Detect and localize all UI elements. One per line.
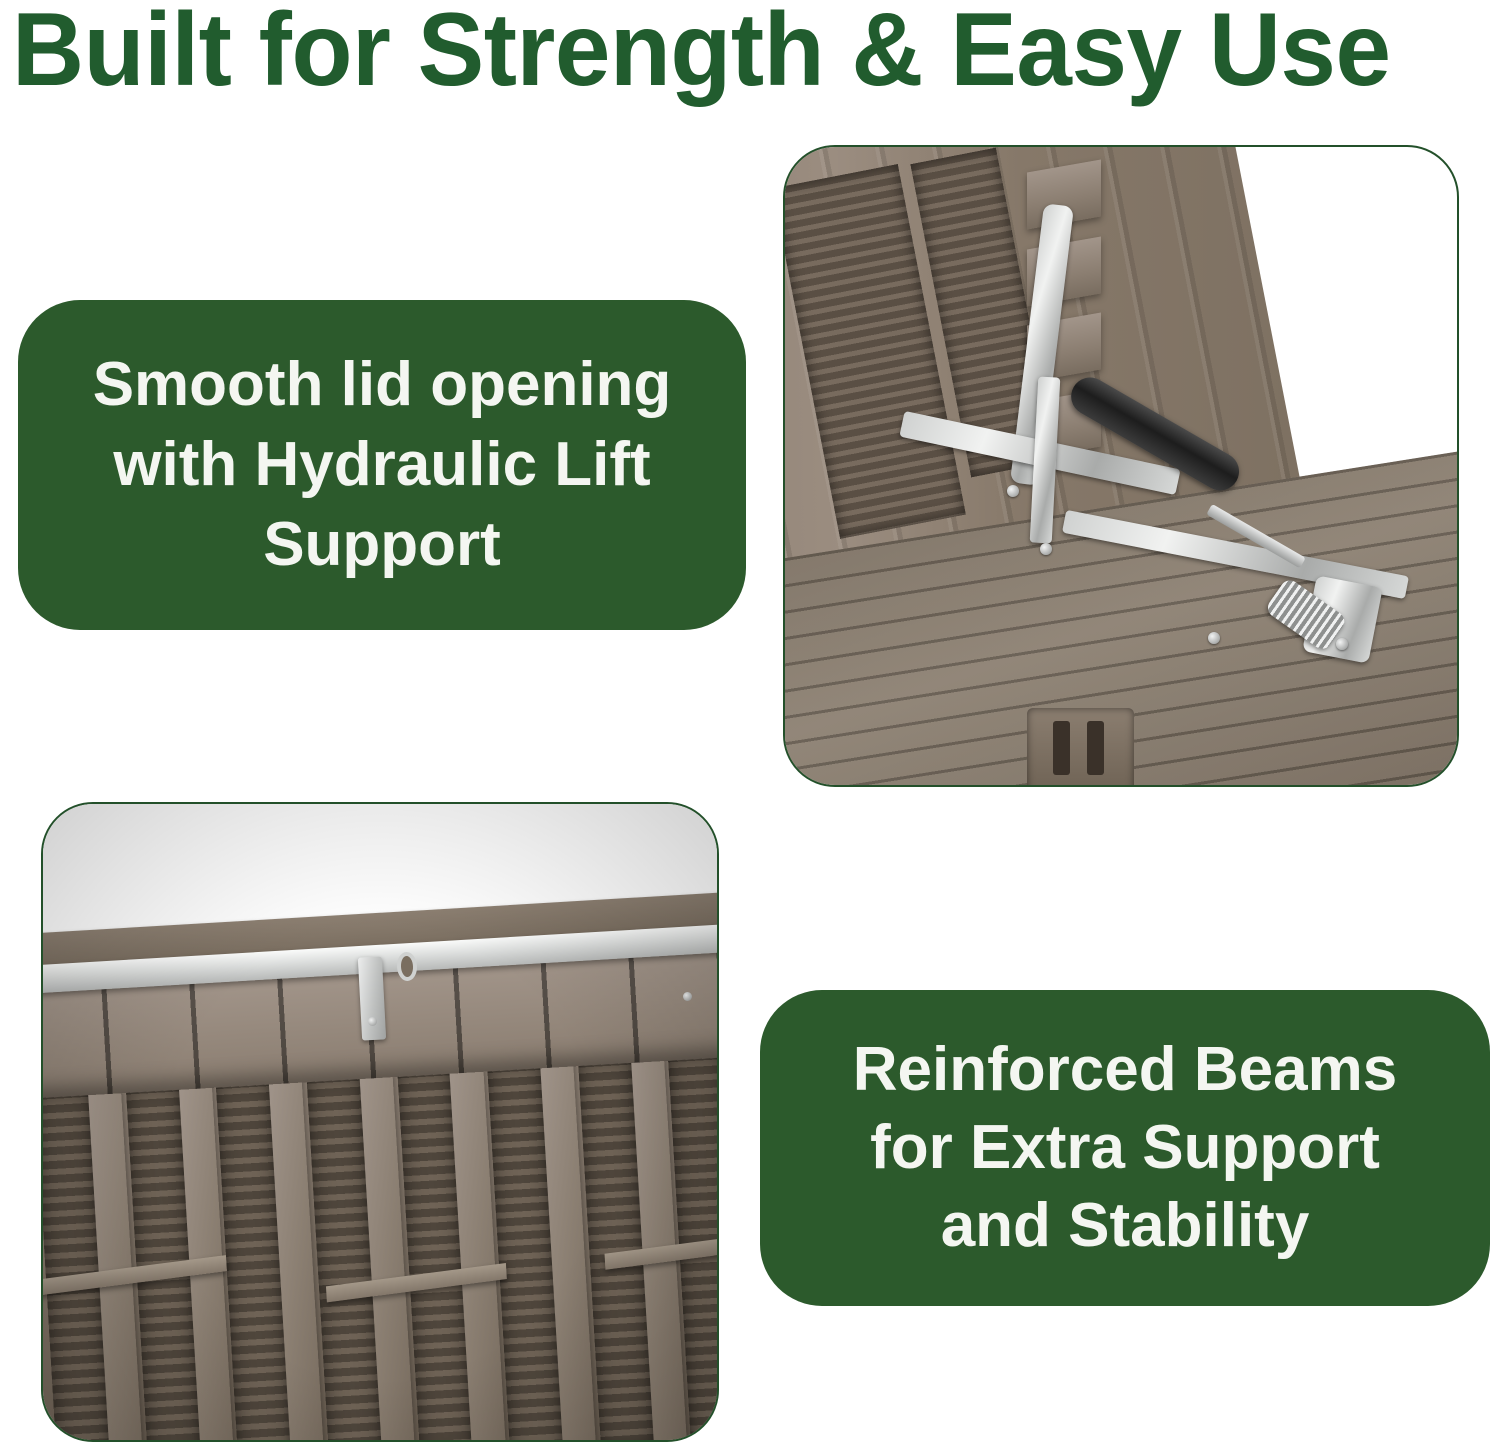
infographic-page: Built for Strength & Easy Use Smooth lid… [0,0,1500,1450]
bracket-screw [368,1017,377,1026]
rail-bracket [358,956,387,1040]
photo-reinforced-beams-scene [43,804,717,1440]
beam-wall-lower [43,1049,717,1440]
pivot-bolt [1040,543,1052,555]
callout-hydraulic-lift-text: Smooth lid opening with Hydraulic Lift S… [93,345,672,585]
deck-box-latch [1027,708,1135,785]
callout-hydraulic-lift: Smooth lid opening with Hydraulic Lift S… [18,300,746,630]
photo-hydraulic-lift-scene [785,147,1457,785]
callout-line: with Hydraulic Lift [93,425,672,505]
pivot-bolt [1007,485,1019,497]
callout-line: Smooth lid opening [93,345,672,425]
callout-reinforced-beams: Reinforced Beams for Extra Support and S… [760,990,1490,1306]
callout-line: Reinforced Beams [853,1031,1397,1109]
callout-line: for Extra Support [853,1109,1397,1187]
page-title: Built for Strength & Easy Use [12,0,1433,104]
photo-hydraulic-lift [783,145,1459,787]
callout-line: and Stability [853,1187,1397,1265]
photo-reinforced-beams [41,802,719,1442]
callout-reinforced-beams-text: Reinforced Beams for Extra Support and S… [853,1031,1397,1265]
callout-line: Support [93,505,672,585]
bracket-screw [683,992,692,1001]
